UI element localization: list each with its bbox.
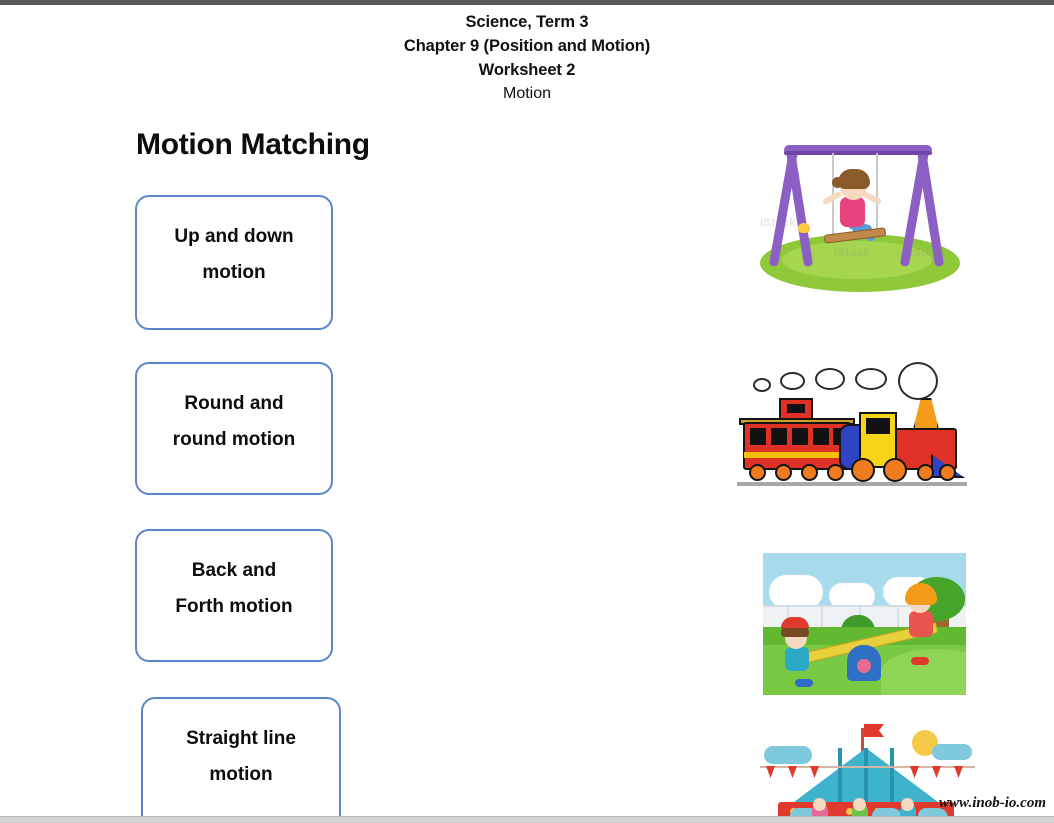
match-box-label-line1: Round and <box>137 386 331 422</box>
match-box-back-and-forth[interactable]: Back and Forth motion <box>135 529 333 662</box>
train-wheel <box>851 458 875 482</box>
bunting-flag <box>910 766 919 778</box>
girl-hair <box>838 169 870 189</box>
match-box-label-line1: Back and <box>137 553 331 589</box>
match-box-straight-line[interactable]: Straight line motion <box>141 697 341 823</box>
train-wheel <box>749 464 766 481</box>
train-wheel <box>801 464 818 481</box>
match-box-label-line2: Forth motion <box>137 589 331 625</box>
swing-top-bar-shadow <box>784 151 932 155</box>
page-title: Motion Matching <box>136 128 370 162</box>
train-wheel <box>775 464 792 481</box>
train-wheel <box>939 464 956 481</box>
page-chrome-bottom-bar <box>0 816 1054 823</box>
header-line-subject-term: Science, Term 3 <box>0 10 1054 34</box>
bunting-flag <box>810 766 819 778</box>
worksheet-header: Science, Term 3 Chapter 9 (Position and … <box>0 10 1054 106</box>
seesaw-base-detail <box>857 659 871 673</box>
smoke-puff <box>780 372 805 390</box>
boy-right-shoe <box>911 657 929 665</box>
caboose-cupola-window <box>787 404 805 413</box>
istock-watermark: iStock <box>910 247 946 259</box>
bunting-flag <box>788 766 797 778</box>
header-line-chapter: Chapter 9 (Position and Motion) <box>0 34 1054 58</box>
bunting-flag <box>954 766 963 778</box>
caboose-window <box>771 428 787 445</box>
bunting-flag <box>932 766 941 778</box>
match-box-up-and-down[interactable]: Up and down motion <box>135 195 333 330</box>
girl-on-swing-image[interactable]: iStock iStock iStock <box>752 131 967 295</box>
train-track <box>737 482 967 486</box>
caboose-window <box>813 428 829 445</box>
bunting-flag <box>766 766 775 778</box>
flag-icon <box>864 724 884 737</box>
header-line-worksheet-number: Worksheet 2 <box>0 58 1054 82</box>
caboose-window <box>750 428 766 445</box>
match-box-round-and-round[interactable]: Round and round motion <box>135 362 333 495</box>
canopy-stripe <box>890 748 894 808</box>
smoke-puff <box>753 378 771 392</box>
carousel-child-head <box>901 798 914 811</box>
boy-left-torso <box>785 647 809 671</box>
train-wheel <box>883 458 907 482</box>
smoke-puff <box>815 368 845 390</box>
site-url-watermark: www.inob-io.com <box>939 795 1046 812</box>
swing-rope <box>876 153 878 235</box>
caboose-stripe <box>744 452 850 458</box>
cloud <box>932 744 972 760</box>
girl-torso <box>840 197 865 227</box>
match-box-label-line2: motion <box>137 255 331 291</box>
boy-right-torso <box>909 611 933 637</box>
match-box-label-line1: Straight line <box>143 721 339 757</box>
boy-left-cap <box>781 617 809 628</box>
caboose-window <box>792 428 808 445</box>
match-box-label-line2: motion <box>143 757 339 793</box>
steam-train-image[interactable] <box>735 360 970 495</box>
worksheet-page: Science, Term 3 Chapter 9 (Position and … <box>0 0 1054 823</box>
match-box-label-line2: round motion <box>137 422 331 458</box>
smoke-puff <box>898 362 938 400</box>
bird-icon <box>798 223 810 233</box>
grass-mound <box>881 649 966 695</box>
canopy-stripe <box>864 748 868 808</box>
locomotive-cab-window <box>866 418 890 434</box>
smoke-puff <box>855 368 887 390</box>
boy-left-shoe <box>795 679 813 687</box>
header-line-topic: Motion <box>0 82 1054 106</box>
children-on-seesaw-image[interactable] <box>763 553 966 695</box>
cloud <box>769 575 823 609</box>
cloud <box>764 746 812 764</box>
carousel-child-head <box>813 798 826 811</box>
train-wheel <box>827 464 844 481</box>
carousel-child-head <box>853 798 866 811</box>
page-chrome-top-bar <box>0 0 1054 5</box>
istock-watermark: iStock <box>760 217 796 229</box>
train-wheel <box>917 464 934 481</box>
match-box-label-line1: Up and down <box>137 219 331 255</box>
locomotive-smokestack <box>913 398 939 430</box>
canopy-stripe <box>838 748 842 808</box>
istock-watermark: iStock <box>834 247 870 259</box>
